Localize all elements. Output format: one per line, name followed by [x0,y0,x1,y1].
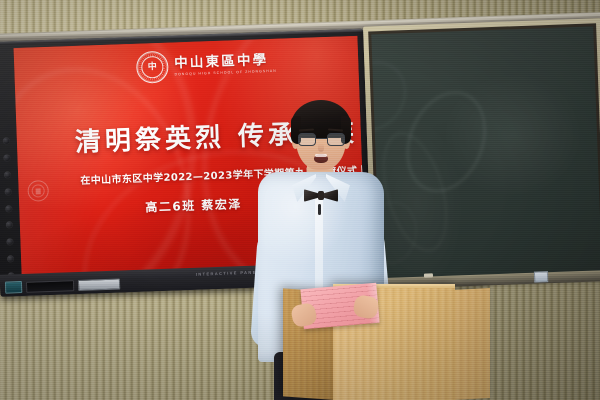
school-name-block: 中山東區中學 DONGQU HIGH SCHOOL OF ZHONGSHAN [174,53,277,77]
lectern-right-wing [453,288,490,400]
slide-logo-lockup: 中 中山東區中學 DONGQU HIGH SCHOOL OF ZHONGSHAN [136,47,277,84]
tray-sticker [534,271,548,282]
lens-left [298,133,316,146]
bowtie [304,188,338,203]
panel-indicator-chip [5,281,22,294]
panel-side-button[interactable] [7,255,14,262]
panel-side-button[interactable] [5,205,12,212]
panel-side-button[interactable] [6,239,13,246]
lens-right [327,133,345,146]
panel-side-button[interactable] [4,171,11,178]
chalk-stick[interactable] [424,273,433,277]
glasses-bridge [316,138,327,139]
chalkboard-surface[interactable] [371,26,600,286]
panel-port-group[interactable] [26,280,74,293]
photo-scene: 中 中山東區中學 DONGQU HIGH SCHOOL OF ZHONGSHAN… [0,0,600,400]
nose [318,143,324,152]
slide-author: 高二6班 蔡宏泽 [145,195,242,215]
panel-side-button[interactable] [5,188,12,195]
teeth [315,154,327,157]
panel-side-button[interactable] [3,137,10,144]
panel-side-button[interactable] [6,222,13,229]
panel-side-button[interactable] [3,154,10,161]
school-name-cn: 中山東區中學 [174,53,277,71]
bowtie-knot [318,191,324,200]
school-seal-icon: 中 [136,51,169,84]
panel-brand-text: INTERACTIVE PANEL [196,269,261,276]
seal-tick-ring [138,53,167,82]
panel-side-button-column[interactable] [1,137,17,279]
panel-label-plate [78,278,120,290]
clip-microphone-icon [318,204,321,215]
